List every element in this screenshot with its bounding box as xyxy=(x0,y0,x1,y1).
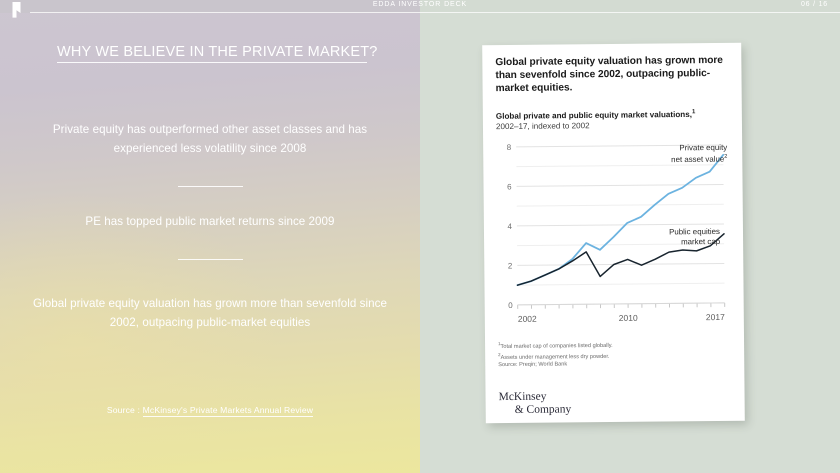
chart-title-text: Global private and public equity market … xyxy=(496,110,692,121)
chart-x-tickmarks xyxy=(518,303,725,309)
chart-subtitle: 2002–17, indexed to 2002 xyxy=(496,120,729,133)
chart-gridlines xyxy=(516,145,725,305)
source-line: Source : McKinsey's Private Markets Annu… xyxy=(20,405,400,415)
series-label-private-equity: Private equitynet asset value2 xyxy=(671,143,727,165)
top-bar-rule xyxy=(30,12,840,13)
svg-text:2002: 2002 xyxy=(518,314,537,324)
svg-text:2017: 2017 xyxy=(706,312,725,322)
chart-source: Source: Preqin; World Bank xyxy=(498,360,731,369)
svg-text:8: 8 xyxy=(507,143,512,152)
svg-text:6: 6 xyxy=(507,182,512,191)
page-number: 06 / 16 xyxy=(801,1,828,8)
source-link[interactable]: McKinsey's Private Markets Annual Review xyxy=(143,405,314,417)
source-prefix: Source : xyxy=(107,405,143,415)
list-item: Global private equity valuation has grow… xyxy=(20,295,400,332)
bullet-divider xyxy=(178,259,243,260)
list-item: PE has topped public market returns sinc… xyxy=(20,213,400,232)
slide-canvas: EDDA INVESTOR DECK 06 / 16 WHY WE BELIEV… xyxy=(0,0,840,473)
bullet-divider xyxy=(178,186,243,187)
svg-text:0: 0 xyxy=(508,301,513,310)
mckinsey-logo: McKinsey & Company xyxy=(499,389,732,416)
left-gradient-panel xyxy=(0,0,420,473)
chart-x-tick-labels: 200220102017 xyxy=(518,312,725,324)
list-item: Private equity has outperformed other as… xyxy=(20,121,400,158)
chart-plot-area: 02468 200220102017 Private equitynet ass… xyxy=(496,139,731,331)
chart-title-footnote-marker: 1 xyxy=(692,109,695,115)
chart-y-tick-labels: 02468 xyxy=(507,143,514,310)
svg-text:4: 4 xyxy=(507,222,512,231)
svg-text:2010: 2010 xyxy=(619,313,638,323)
mckinsey-logo-line2: & Company xyxy=(499,401,732,416)
chart-title: Global private and public equity market … xyxy=(496,106,729,121)
series-label-public-equities: Public equitiesmarket cap xyxy=(669,227,720,247)
page-title: WHY WE BELIEVE IN THE PRIVATE MARKET? xyxy=(57,44,367,63)
svg-text:2: 2 xyxy=(508,261,513,270)
deck-title: EDDA INVESTOR DECK xyxy=(0,1,840,8)
chart-footnotes: 1Total market cap of companies listed gl… xyxy=(498,338,731,370)
footnote-2-text: Assets under management less dry powder. xyxy=(501,354,610,361)
chart-card-headline: Global private equity valuation has grow… xyxy=(495,54,728,96)
chart-title-block: Global private and public equity market … xyxy=(496,106,729,132)
footnote-1-text: Total market cap of companies listed glo… xyxy=(501,343,613,350)
chart-card: Global private equity valuation has grow… xyxy=(482,43,745,423)
